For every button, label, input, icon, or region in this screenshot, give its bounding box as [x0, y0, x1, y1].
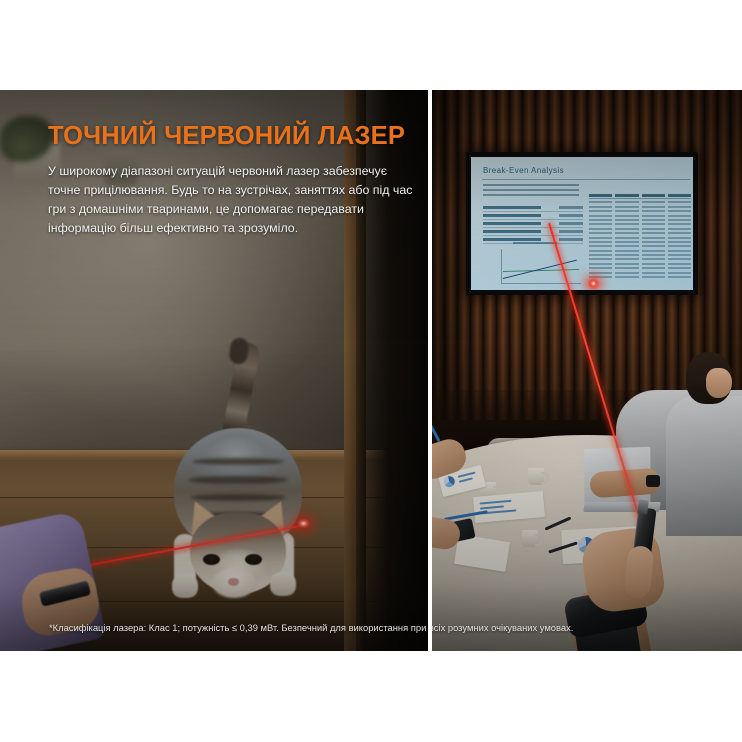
laser-pointer-tip — [637, 499, 649, 514]
slide-divider — [482, 179, 690, 180]
cat — [150, 342, 325, 607]
cat-nose — [228, 578, 239, 586]
laser-dot-floor — [296, 518, 311, 529]
cat-eye-left — [203, 554, 220, 565]
laser-dot-on-screen — [587, 277, 600, 290]
cat-eye-right — [245, 554, 262, 565]
body-copy: У широкому діапазоні ситуацій червоний л… — [48, 162, 420, 237]
product-feature-poster: Break-Even Analysis — [0, 90, 742, 651]
copy-block: ТОЧНИЙ ЧЕРВОНИЙ ЛАЗЕР У широкому діапазо… — [48, 122, 420, 237]
presentation-display: Break-Even Analysis — [466, 152, 698, 295]
coffee-mug-2 — [528, 468, 544, 485]
slide-data-table — [589, 194, 691, 278]
person-right-face — [706, 368, 732, 398]
slide-title: Break-Even Analysis — [483, 166, 564, 175]
right-scene-meeting-room: Break-Even Analysis — [432, 90, 742, 651]
footnote-bar: *Класифікація лазера: Клас 1; потужність… — [0, 603, 742, 651]
wristwatch-small — [646, 475, 660, 487]
presenter-fist — [579, 525, 667, 615]
slide-paragraph — [483, 184, 579, 198]
cat-paw-right — [270, 572, 296, 596]
slide-key-values — [483, 204, 583, 244]
person-standing-right — [668, 352, 742, 532]
coffee-mug-3 — [522, 530, 538, 547]
page-title: ТОЧНИЙ ЧЕРВОНИЙ ЛАЗЕР — [48, 122, 420, 150]
panel-divider — [428, 90, 432, 651]
display-screen: Break-Even Analysis — [471, 157, 693, 290]
laser-classification-footnote: *Класифікація лазера: Клас 1; потужність… — [0, 622, 573, 633]
cat-paw-left — [172, 574, 198, 598]
